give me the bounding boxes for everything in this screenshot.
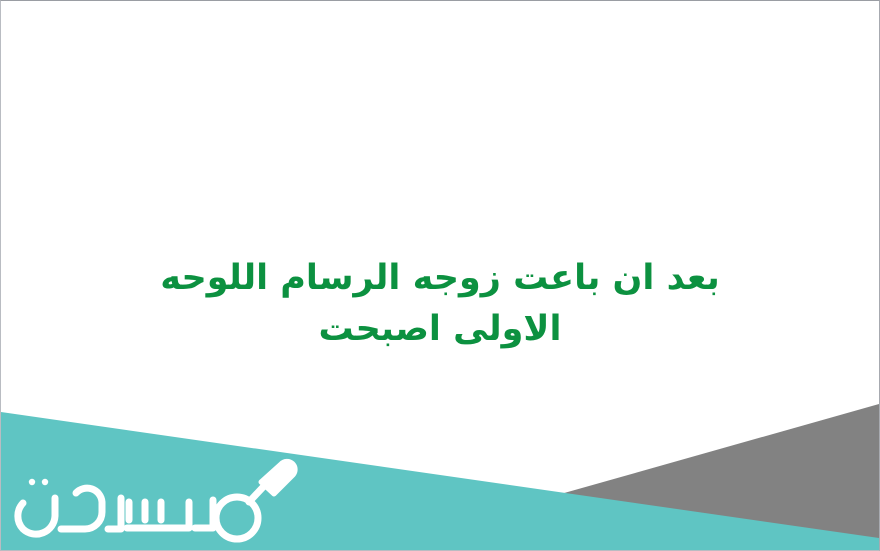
- brand-wordmark-moswa3a: [18, 461, 295, 539]
- headline: بعد ان باعت زوجه الرسام اللوحه الاولى اص…: [1, 253, 879, 355]
- headline-line-1: بعد ان باعت زوجه الرسام اللوحه: [61, 253, 819, 304]
- letter-meem-tail: [249, 485, 265, 502]
- letter-seen: [127, 502, 189, 528]
- letter-waw-1: [108, 498, 121, 529]
- ta-dot-right: [29, 479, 35, 485]
- ta-dot-left: [42, 479, 48, 485]
- brand-logo[interactable]: موسوعة: [13, 458, 313, 544]
- headline-line-2: الاولى اصبحت: [61, 304, 819, 355]
- letter-ain: [61, 488, 102, 529]
- article-thumbnail-card: بعد ان باعت زوجه الرسام اللوحه الاولى اص…: [0, 0, 880, 551]
- pen-nib-icon: [261, 461, 295, 494]
- card-canvas: بعد ان باعت زوجه الرسام اللوحه الاولى اص…: [1, 1, 879, 550]
- letter-waw-2: [195, 500, 213, 528]
- letter-ta-marbuta: [18, 498, 55, 534]
